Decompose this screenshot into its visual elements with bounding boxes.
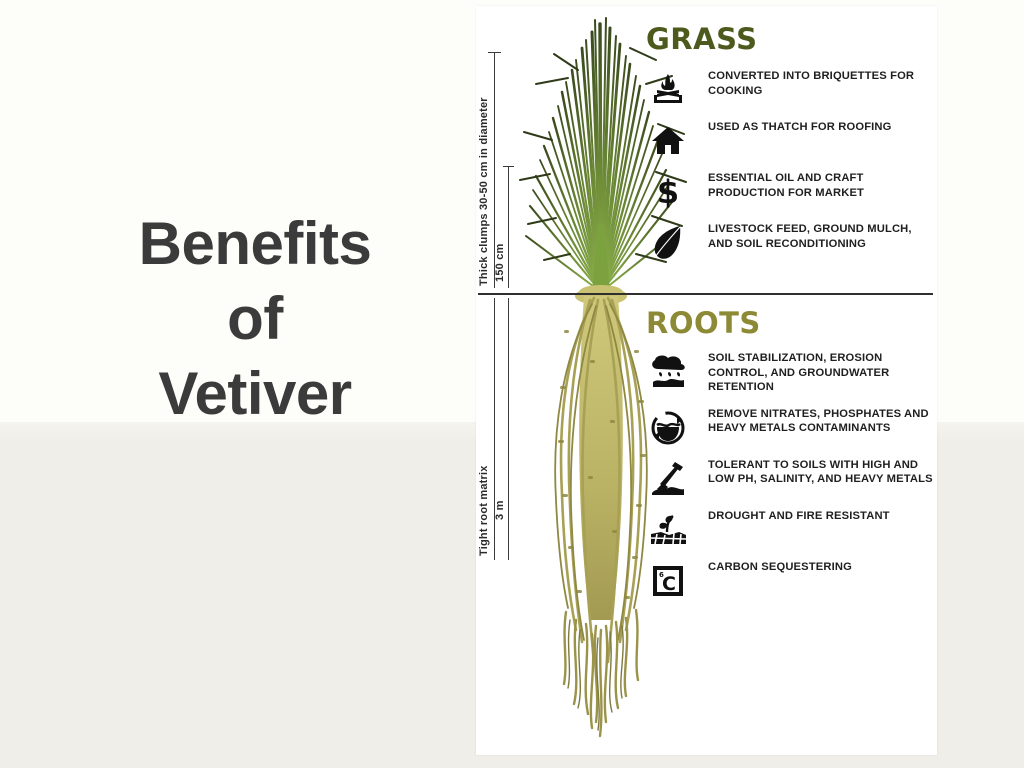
roots-benefit-text: SOIL STABILIZATION, EROSION CONTROL, AND… [708,350,936,395]
grass-benefit-text: USED AS THATCH FOR ROOFING [708,119,936,135]
label-grass-height: 150 cm [494,172,506,282]
roots-benefit-row: REMOVE NITRATES, PHOSPHATES AND HEAVY ME… [646,406,936,446]
shovel-soil-icon [646,457,690,501]
title-line-1: Benefits [60,206,450,281]
carbon-element-icon: 6 C [646,559,690,603]
grass-benefit-row: USED AS THATCH FOR ROOFING [646,119,936,159]
roots-heading: ROOTS [646,308,936,338]
sprout-cracked-earth-icon [646,508,690,552]
roots-benefit-text: DROUGHT AND FIRE RESISTANT [708,508,936,524]
roots-benefit-text: REMOVE NITRATES, PHOSPHATES AND HEAVY ME… [708,406,936,436]
water-filter-cycle-icon [646,406,690,450]
ruler-tick-grass-top [488,52,501,53]
rain-cloud-soil-icon [646,350,690,394]
dollar-sign-icon: $ [646,170,690,214]
label-clump-diameter: Thick clumps 30-50 cm in diameter [478,58,490,286]
title-line-3: Vetiver [60,356,450,431]
roots-benefit-row: DROUGHT AND FIRE RESISTANT [646,508,936,548]
roots-benefit-text: TOLERANT TO SOILS WITH HIGH AND LOW PH, … [708,457,936,487]
label-root-matrix: Tight root matrix [478,426,490,556]
roots-benefit-row: 6 C CARBON SEQUESTERING [646,559,936,599]
campfire-briquette-icon [646,68,690,112]
roots-benefit-row: SOIL STABILIZATION, EROSION CONTROL, AND… [646,350,936,395]
svg-text:$: $ [657,175,679,209]
grass-section: GRASS CONVERTED INTO BRIQUETTES FOR COOK… [646,24,936,272]
section-divider [478,293,933,295]
grass-heading: GRASS [646,24,936,54]
grass-benefit-text: CONVERTED INTO BRIQUETTES FOR COOKING [708,68,936,98]
page-title: Benefits of Vetiver [60,206,450,431]
roots-section: ROOTS SOIL STABILIZATION, EROSION CONTRO… [646,308,936,610]
ruler-line-root-outer [494,298,495,560]
roots-benefit-row: TOLERANT TO SOILS WITH HIGH AND LOW PH, … [646,457,936,497]
svg-text:C: C [662,573,676,595]
leaf-icon [646,221,690,265]
house-icon [646,119,690,163]
vetiver-infographic-card: Thick clumps 30-50 cm in diameter 150 cm… [476,6,937,755]
grass-benefit-row: $ ESSENTIAL OIL AND CRAFT PRODUCTION FOR… [646,170,936,210]
grass-benefit-text: LIVESTOCK FEED, GROUND MULCH, AND SOIL R… [708,221,936,251]
grass-benefit-text: ESSENTIAL OIL AND CRAFT PRODUCTION FOR M… [708,170,936,200]
grass-benefit-row: LIVESTOCK FEED, GROUND MULCH, AND SOIL R… [646,221,936,261]
roots-benefit-text: CARBON SEQUESTERING [708,559,936,575]
label-root-depth: 3 m [494,468,506,520]
title-line-2: of [60,281,450,356]
grass-benefit-row: CONVERTED INTO BRIQUETTES FOR COOKING [646,68,936,108]
